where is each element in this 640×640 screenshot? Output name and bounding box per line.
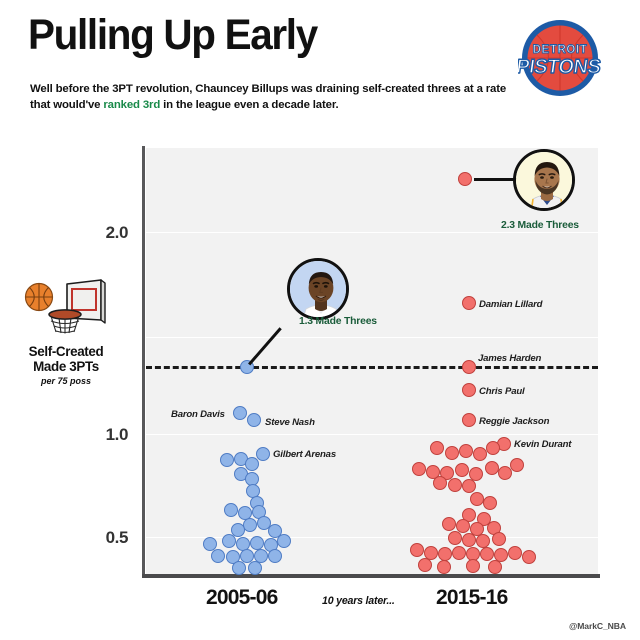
data-point[interactable]	[224, 503, 238, 517]
billups-callout-label: 1.3 Made Threes	[299, 316, 377, 327]
data-point[interactable]	[433, 476, 447, 490]
label-damian-lillard: Damian Lillard	[479, 299, 542, 310]
pistons-logo-svg: DETROIT PISTONS	[518, 16, 602, 100]
curry-callout-line	[474, 178, 518, 181]
data-point[interactable]	[459, 444, 473, 458]
y-tick-0.5: 0.5	[68, 528, 128, 548]
data-point[interactable]	[211, 549, 225, 563]
data-point[interactable]	[222, 534, 236, 548]
data-point[interactable]	[508, 546, 522, 560]
label-chris-paul: Chris Paul	[479, 386, 524, 397]
data-point[interactable]	[410, 543, 424, 557]
x-label-mid-annotation: 10 years later...	[322, 595, 395, 607]
data-point[interactable]	[245, 457, 259, 471]
x-label-2015-16: 2015-16	[436, 586, 507, 610]
data-point[interactable]	[442, 517, 456, 531]
page-title: Pulling Up Early	[28, 14, 317, 57]
data-point[interactable]	[473, 447, 487, 461]
y-axis-label-main: Self-Created Made 3PTs	[2, 344, 130, 374]
chauncey-billups-portrait	[287, 258, 349, 320]
data-point[interactable]	[445, 446, 459, 460]
x-label-2005-06: 2005-06	[206, 586, 277, 610]
data-point[interactable]	[437, 560, 451, 574]
data-point[interactable]	[250, 536, 264, 550]
data-point-damian-lillard[interactable]	[462, 296, 476, 310]
subtitle: Well before the 3PT revolution, Chauncey…	[30, 81, 510, 113]
y-tick-1.0: 1.0	[68, 425, 128, 445]
stephen-curry-portrait	[513, 149, 575, 211]
data-point[interactable]	[486, 441, 500, 455]
data-point[interactable]	[232, 561, 246, 575]
subtitle-highlight: ranked 3rd	[103, 99, 160, 111]
basketball-hoop-icon	[23, 278, 109, 336]
data-point[interactable]	[462, 533, 476, 547]
benchmark-dashed-line	[146, 366, 598, 369]
data-point[interactable]	[430, 441, 444, 455]
label-steve-nash: Steve Nash	[265, 417, 315, 428]
subtitle-bold: decade later.	[271, 99, 338, 111]
data-point[interactable]	[220, 453, 234, 467]
subtitle-text-2: in the league even a	[160, 99, 271, 111]
data-point-reggie-jackson[interactable]	[462, 413, 476, 427]
data-point[interactable]	[483, 496, 497, 510]
y-axis-label-group: Self-Created Made 3PTs per 75 poss	[2, 278, 130, 386]
data-point[interactable]	[492, 532, 506, 546]
data-point[interactable]	[448, 531, 462, 545]
label-james-harden: James Harden	[478, 353, 541, 364]
y-axis-label-sub: per 75 poss	[2, 376, 130, 386]
data-point[interactable]	[476, 534, 490, 548]
detroit-pistons-logo: DETROIT PISTONS	[518, 16, 602, 100]
data-point[interactable]	[418, 558, 432, 572]
data-point[interactable]	[480, 547, 494, 561]
data-point-stephen-curry[interactable]	[458, 172, 472, 186]
gridline-2.0	[146, 232, 598, 233]
data-point[interactable]	[277, 534, 291, 548]
data-point[interactable]	[470, 492, 484, 506]
credit-handle: @MarkC_NBA	[569, 621, 626, 631]
label-reggie-jackson: Reggie Jackson	[479, 416, 549, 427]
y-axis-label-line2: Made 3PTs	[33, 359, 99, 374]
data-point[interactable]	[462, 479, 476, 493]
x-axis-line	[142, 574, 600, 578]
gridline-1.5	[146, 337, 598, 338]
label-kevin-durant: Kevin Durant	[514, 439, 571, 450]
y-axis-label-line1: Self-Created	[29, 344, 104, 359]
data-point-steve-nash[interactable]	[247, 413, 261, 427]
data-point-james-harden[interactable]	[462, 360, 476, 374]
y-tick-2.0: 2.0	[68, 223, 128, 243]
data-point[interactable]	[522, 550, 536, 564]
data-point[interactable]	[448, 478, 462, 492]
data-point[interactable]	[510, 458, 524, 472]
data-point-baron-davis[interactable]	[233, 406, 247, 420]
data-point[interactable]	[485, 461, 499, 475]
label-gilbert-arenas: Gilbert Arenas	[273, 449, 336, 460]
curry-callout-label: 2.3 Made Threes	[501, 220, 579, 231]
data-point[interactable]	[412, 462, 426, 476]
data-point[interactable]	[488, 560, 502, 574]
label-baron-davis: Baron Davis	[171, 409, 225, 420]
data-point[interactable]	[248, 561, 262, 575]
data-point[interactable]	[438, 547, 452, 561]
svg-text:DETROIT: DETROIT	[533, 44, 588, 56]
data-point-chris-paul[interactable]	[462, 383, 476, 397]
data-point[interactable]	[268, 549, 282, 563]
svg-text:PISTONS: PISTONS	[518, 56, 602, 78]
data-point[interactable]	[452, 546, 466, 560]
data-point[interactable]	[466, 559, 480, 573]
data-point-gilbert-arenas[interactable]	[256, 447, 270, 461]
y-axis-line	[142, 146, 145, 578]
data-point[interactable]	[455, 463, 469, 477]
gridline-1.0	[146, 434, 598, 435]
data-point[interactable]	[243, 518, 257, 532]
infographic-root: Pulling Up Early Well before the 3PT rev…	[0, 0, 640, 640]
